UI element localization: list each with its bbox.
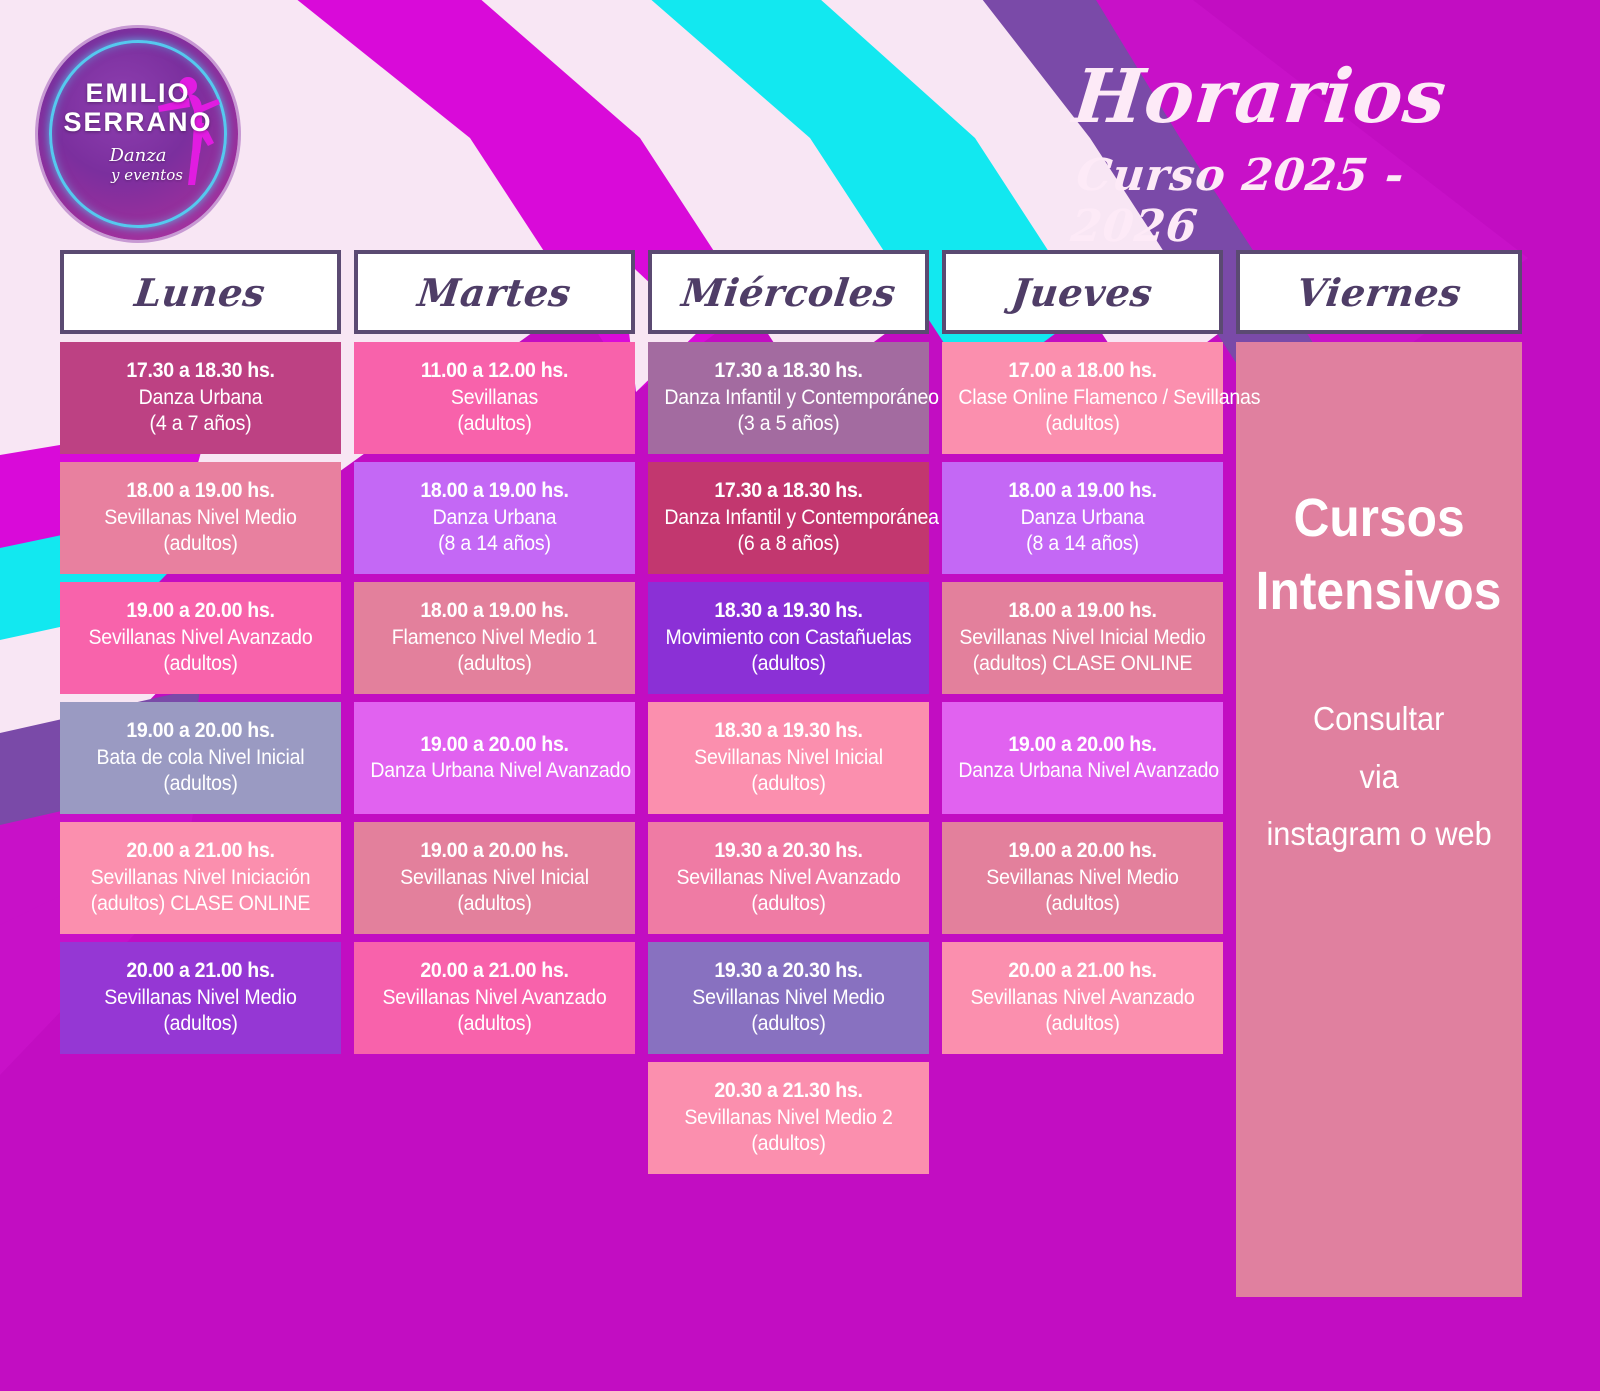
class-name: Danza Urbana Nivel Avanzado (370, 758, 618, 784)
class-audience: (adultos) (76, 1011, 324, 1037)
class-name: Danza Infantil y Contemporáneo (664, 385, 912, 411)
class-time: 17.30 a 18.30 hs. (76, 358, 324, 384)
class-cell[interactable]: 20.00 a 21.00 hs.Sevillanas Nivel Medio(… (60, 942, 341, 1054)
class-time: 20.00 a 21.00 hs. (76, 958, 324, 984)
class-cell[interactable]: 18.00 a 19.00 hs.Danza Urbana(8 a 14 año… (354, 462, 635, 574)
class-cell[interactable]: 17.00 a 18.00 hs.Clase Online Flamenco /… (942, 342, 1223, 454)
class-cell[interactable]: 17.30 a 18.30 hs.Danza Infantil y Contem… (648, 462, 929, 574)
logo-tagline-1: Danza (110, 145, 167, 166)
schedule-poster: EMILIO SERRANO Danza y eventos Horarios … (0, 0, 1600, 1391)
class-name: Sevillanas Nivel Inicial (664, 745, 912, 771)
day-header-lunes[interactable]: Lunes (60, 250, 341, 334)
class-time: 19.00 a 20.00 hs. (958, 838, 1206, 864)
class-audience: (adultos) (664, 891, 912, 917)
class-name: Sevillanas Nivel Iniciación (76, 865, 324, 891)
class-time: 18.00 a 19.00 hs. (370, 478, 618, 504)
intensive-courses-note: Consultar (1313, 690, 1444, 748)
intensive-courses-note: via (1359, 748, 1398, 806)
class-time: 20.00 a 21.00 hs. (370, 958, 618, 984)
class-cell[interactable]: 17.30 a 18.30 hs.Danza Urbana(4 a 7 años… (60, 342, 341, 454)
class-name: Sevillanas Nivel Avanzado (370, 985, 618, 1011)
page-title: Horarios (1070, 62, 1517, 132)
class-time: 19.30 a 20.30 hs. (664, 958, 912, 984)
day-header-label: Martes (415, 270, 573, 315)
day-header-mircoles[interactable]: Miércoles (648, 250, 929, 334)
class-audience: (adultos) (958, 1011, 1206, 1037)
schedule-grid: Lunes17.30 a 18.30 hs.Danza Urbana(4 a 7… (60, 250, 1530, 1297)
day-header-label: Jueves (1010, 270, 1156, 315)
class-time: 18.00 a 19.00 hs. (370, 598, 618, 624)
class-cell[interactable]: 19.30 a 20.30 hs.Sevillanas Nivel Avanza… (648, 822, 929, 934)
class-time: 18.00 a 19.00 hs. (76, 478, 324, 504)
class-name: Danza Infantil y Contemporánea (664, 505, 912, 531)
logo-tagline: Danza y eventos (38, 146, 238, 184)
class-name: Danza Urbana (76, 385, 324, 411)
class-name: Sevillanas (370, 385, 618, 411)
class-audience: (3 a 5 años) (664, 411, 912, 437)
class-cell[interactable]: 18.30 a 19.30 hs.Movimiento con Castañue… (648, 582, 929, 694)
day-header-label: Viernes (1294, 270, 1464, 315)
class-name: Sevillanas Nivel Avanzado (76, 625, 324, 651)
day-column-lunes: Lunes17.30 a 18.30 hs.Danza Urbana(4 a 7… (60, 250, 341, 1054)
day-column-viernes: ViernesCursosIntensivosConsultarviainsta… (1236, 250, 1522, 1297)
class-name: Sevillanas Nivel Avanzado (958, 985, 1206, 1011)
class-name: Flamenco Nivel Medio 1 (370, 625, 618, 651)
class-cell[interactable]: 19.00 a 20.00 hs.Sevillanas Nivel Medio(… (942, 822, 1223, 934)
class-time: 17.30 a 18.30 hs. (664, 358, 912, 384)
class-cell[interactable]: 11.00 a 12.00 hs.Sevillanas(adultos) (354, 342, 635, 454)
day-header-martes[interactable]: Martes (354, 250, 635, 334)
class-name: Danza Urbana (958, 505, 1206, 531)
class-audience: (6 a 8 años) (664, 531, 912, 557)
class-audience: (adultos) (958, 411, 1206, 437)
class-name: Movimiento con Castañuelas (664, 625, 912, 651)
day-header-viernes[interactable]: Viernes (1236, 250, 1522, 334)
logo-line-1: EMILIO (38, 80, 238, 107)
class-time: 19.00 a 20.00 hs. (370, 838, 618, 864)
class-time: 18.30 a 19.30 hs. (664, 718, 912, 744)
class-cell[interactable]: 18.30 a 19.30 hs.Sevillanas Nivel Inicia… (648, 702, 929, 814)
class-name: Clase Online Flamenco / Sevillanas (958, 385, 1206, 411)
class-name: Sevillanas Nivel Medio (76, 505, 324, 531)
class-audience: (8 a 14 años) (958, 531, 1206, 557)
class-name: Bata de cola Nivel Inicial (76, 745, 324, 771)
logo-wordmark: EMILIO SERRANO (38, 80, 238, 136)
day-column-mircoles: Miércoles17.30 a 18.30 hs.Danza Infantil… (648, 250, 929, 1174)
logo-tagline-2: y eventos (56, 167, 238, 184)
class-name: Sevillanas Nivel Medio (664, 985, 912, 1011)
class-audience: (adultos) CLASE ONLINE (958, 651, 1206, 677)
class-audience: (adultos) (76, 531, 324, 557)
class-cell[interactable]: 19.00 a 20.00 hs.Sevillanas Nivel Avanza… (60, 582, 341, 694)
poster-title-block: Horarios Curso 2025 - 2026 (1074, 62, 1514, 252)
class-time: 20.00 a 21.00 hs. (76, 838, 324, 864)
class-time: 19.00 a 20.00 hs. (76, 598, 324, 624)
class-audience: (adultos) (664, 651, 912, 677)
intensive-courses-title: Cursos (1293, 482, 1464, 555)
class-name: Danza Urbana Nivel Avanzado (958, 758, 1206, 784)
class-name: Sevillanas Nivel Medio (76, 985, 324, 1011)
class-name: Sevillanas Nivel Inicial Medio (958, 625, 1206, 651)
class-cell[interactable]: 17.30 a 18.30 hs.Danza Infantil y Contem… (648, 342, 929, 454)
class-cell[interactable]: 18.00 a 19.00 hs.Flamenco Nivel Medio 1(… (354, 582, 635, 694)
class-audience: (adultos) (370, 891, 618, 917)
day-header-label: Lunes (133, 270, 269, 315)
class-name: Sevillanas Nivel Inicial (370, 865, 618, 891)
day-column-martes: Martes11.00 a 12.00 hs.Sevillanas(adulto… (354, 250, 635, 1054)
class-audience: (4 a 7 años) (76, 411, 324, 437)
class-name: Danza Urbana (370, 505, 618, 531)
class-time: 11.00 a 12.00 hs. (370, 358, 618, 384)
class-audience: (adultos) (370, 1011, 618, 1037)
class-audience: (adultos) (664, 771, 912, 797)
logo-line-2: SERRANO (38, 109, 238, 136)
intensive-courses-panel[interactable]: CursosIntensivosConsultarviainstagram o … (1236, 342, 1522, 1297)
class-time: 17.30 a 18.30 hs. (664, 478, 912, 504)
class-time: 19.00 a 20.00 hs. (958, 732, 1206, 758)
class-cell[interactable]: 18.00 a 19.00 hs.Sevillanas Nivel Inicia… (942, 582, 1223, 694)
class-time: 17.00 a 18.00 hs. (958, 358, 1206, 384)
class-time: 19.00 a 20.00 hs. (370, 732, 618, 758)
class-audience: (adultos) CLASE ONLINE (76, 891, 324, 917)
class-cell[interactable]: 20.30 a 21.30 hs.Sevillanas Nivel Medio … (648, 1062, 929, 1174)
class-audience: (adultos) (664, 1011, 912, 1037)
class-cell[interactable]: 18.00 a 19.00 hs.Sevillanas Nivel Medio(… (60, 462, 341, 574)
class-audience: (adultos) (664, 1131, 912, 1157)
class-audience: (adultos) (76, 771, 324, 797)
class-time: 19.00 a 20.00 hs. (76, 718, 324, 744)
class-cell[interactable]: 19.00 a 20.00 hs.Sevillanas Nivel Inicia… (354, 822, 635, 934)
logo-badge: EMILIO SERRANO Danza y eventos (38, 28, 238, 240)
class-time: 20.30 a 21.30 hs. (664, 1078, 912, 1104)
class-cell[interactable]: 20.00 a 21.00 hs.Sevillanas Nivel Avanza… (354, 942, 635, 1054)
intensive-courses-note: instagram o web (1266, 805, 1491, 863)
class-name: Sevillanas Nivel Medio 2 (664, 1105, 912, 1131)
class-cell[interactable]: 19.00 a 20.00 hs.Bata de cola Nivel Inic… (60, 702, 341, 814)
class-cell[interactable]: 18.00 a 19.00 hs.Danza Urbana(8 a 14 año… (942, 462, 1223, 574)
class-cell[interactable]: 20.00 a 21.00 hs.Sevillanas Nivel Inicia… (60, 822, 341, 934)
class-name: Sevillanas Nivel Avanzado (664, 865, 912, 891)
class-name: Sevillanas Nivel Medio (958, 865, 1206, 891)
class-audience: (adultos) (370, 651, 618, 677)
class-audience: (adultos) (370, 411, 618, 437)
class-cell[interactable]: 19.30 a 20.30 hs.Sevillanas Nivel Medio(… (648, 942, 929, 1054)
day-column-jueves: Jueves17.00 a 18.00 hs.Clase Online Flam… (942, 250, 1223, 1054)
class-audience: (8 a 14 años) (370, 531, 618, 557)
day-header-label: Miércoles (679, 270, 898, 315)
class-audience: (adultos) (958, 891, 1206, 917)
class-cell[interactable]: 19.00 a 20.00 hs.Danza Urbana Nivel Avan… (942, 702, 1223, 814)
class-time: 19.30 a 20.30 hs. (664, 838, 912, 864)
class-time: 18.00 a 19.00 hs. (958, 598, 1206, 624)
class-time: 18.30 a 19.30 hs. (664, 598, 912, 624)
class-cell[interactable]: 19.00 a 20.00 hs.Danza Urbana Nivel Avan… (354, 702, 635, 814)
page-subtitle: Curso 2025 - 2026 (1069, 150, 1520, 252)
class-audience: (adultos) (76, 651, 324, 677)
day-header-jueves[interactable]: Jueves (942, 250, 1223, 334)
intensive-courses-title: Intensivos (1256, 555, 1502, 628)
class-cell[interactable]: 20.00 a 21.00 hs.Sevillanas Nivel Avanza… (942, 942, 1223, 1054)
class-time: 20.00 a 21.00 hs. (958, 958, 1206, 984)
class-time: 18.00 a 19.00 hs. (958, 478, 1206, 504)
